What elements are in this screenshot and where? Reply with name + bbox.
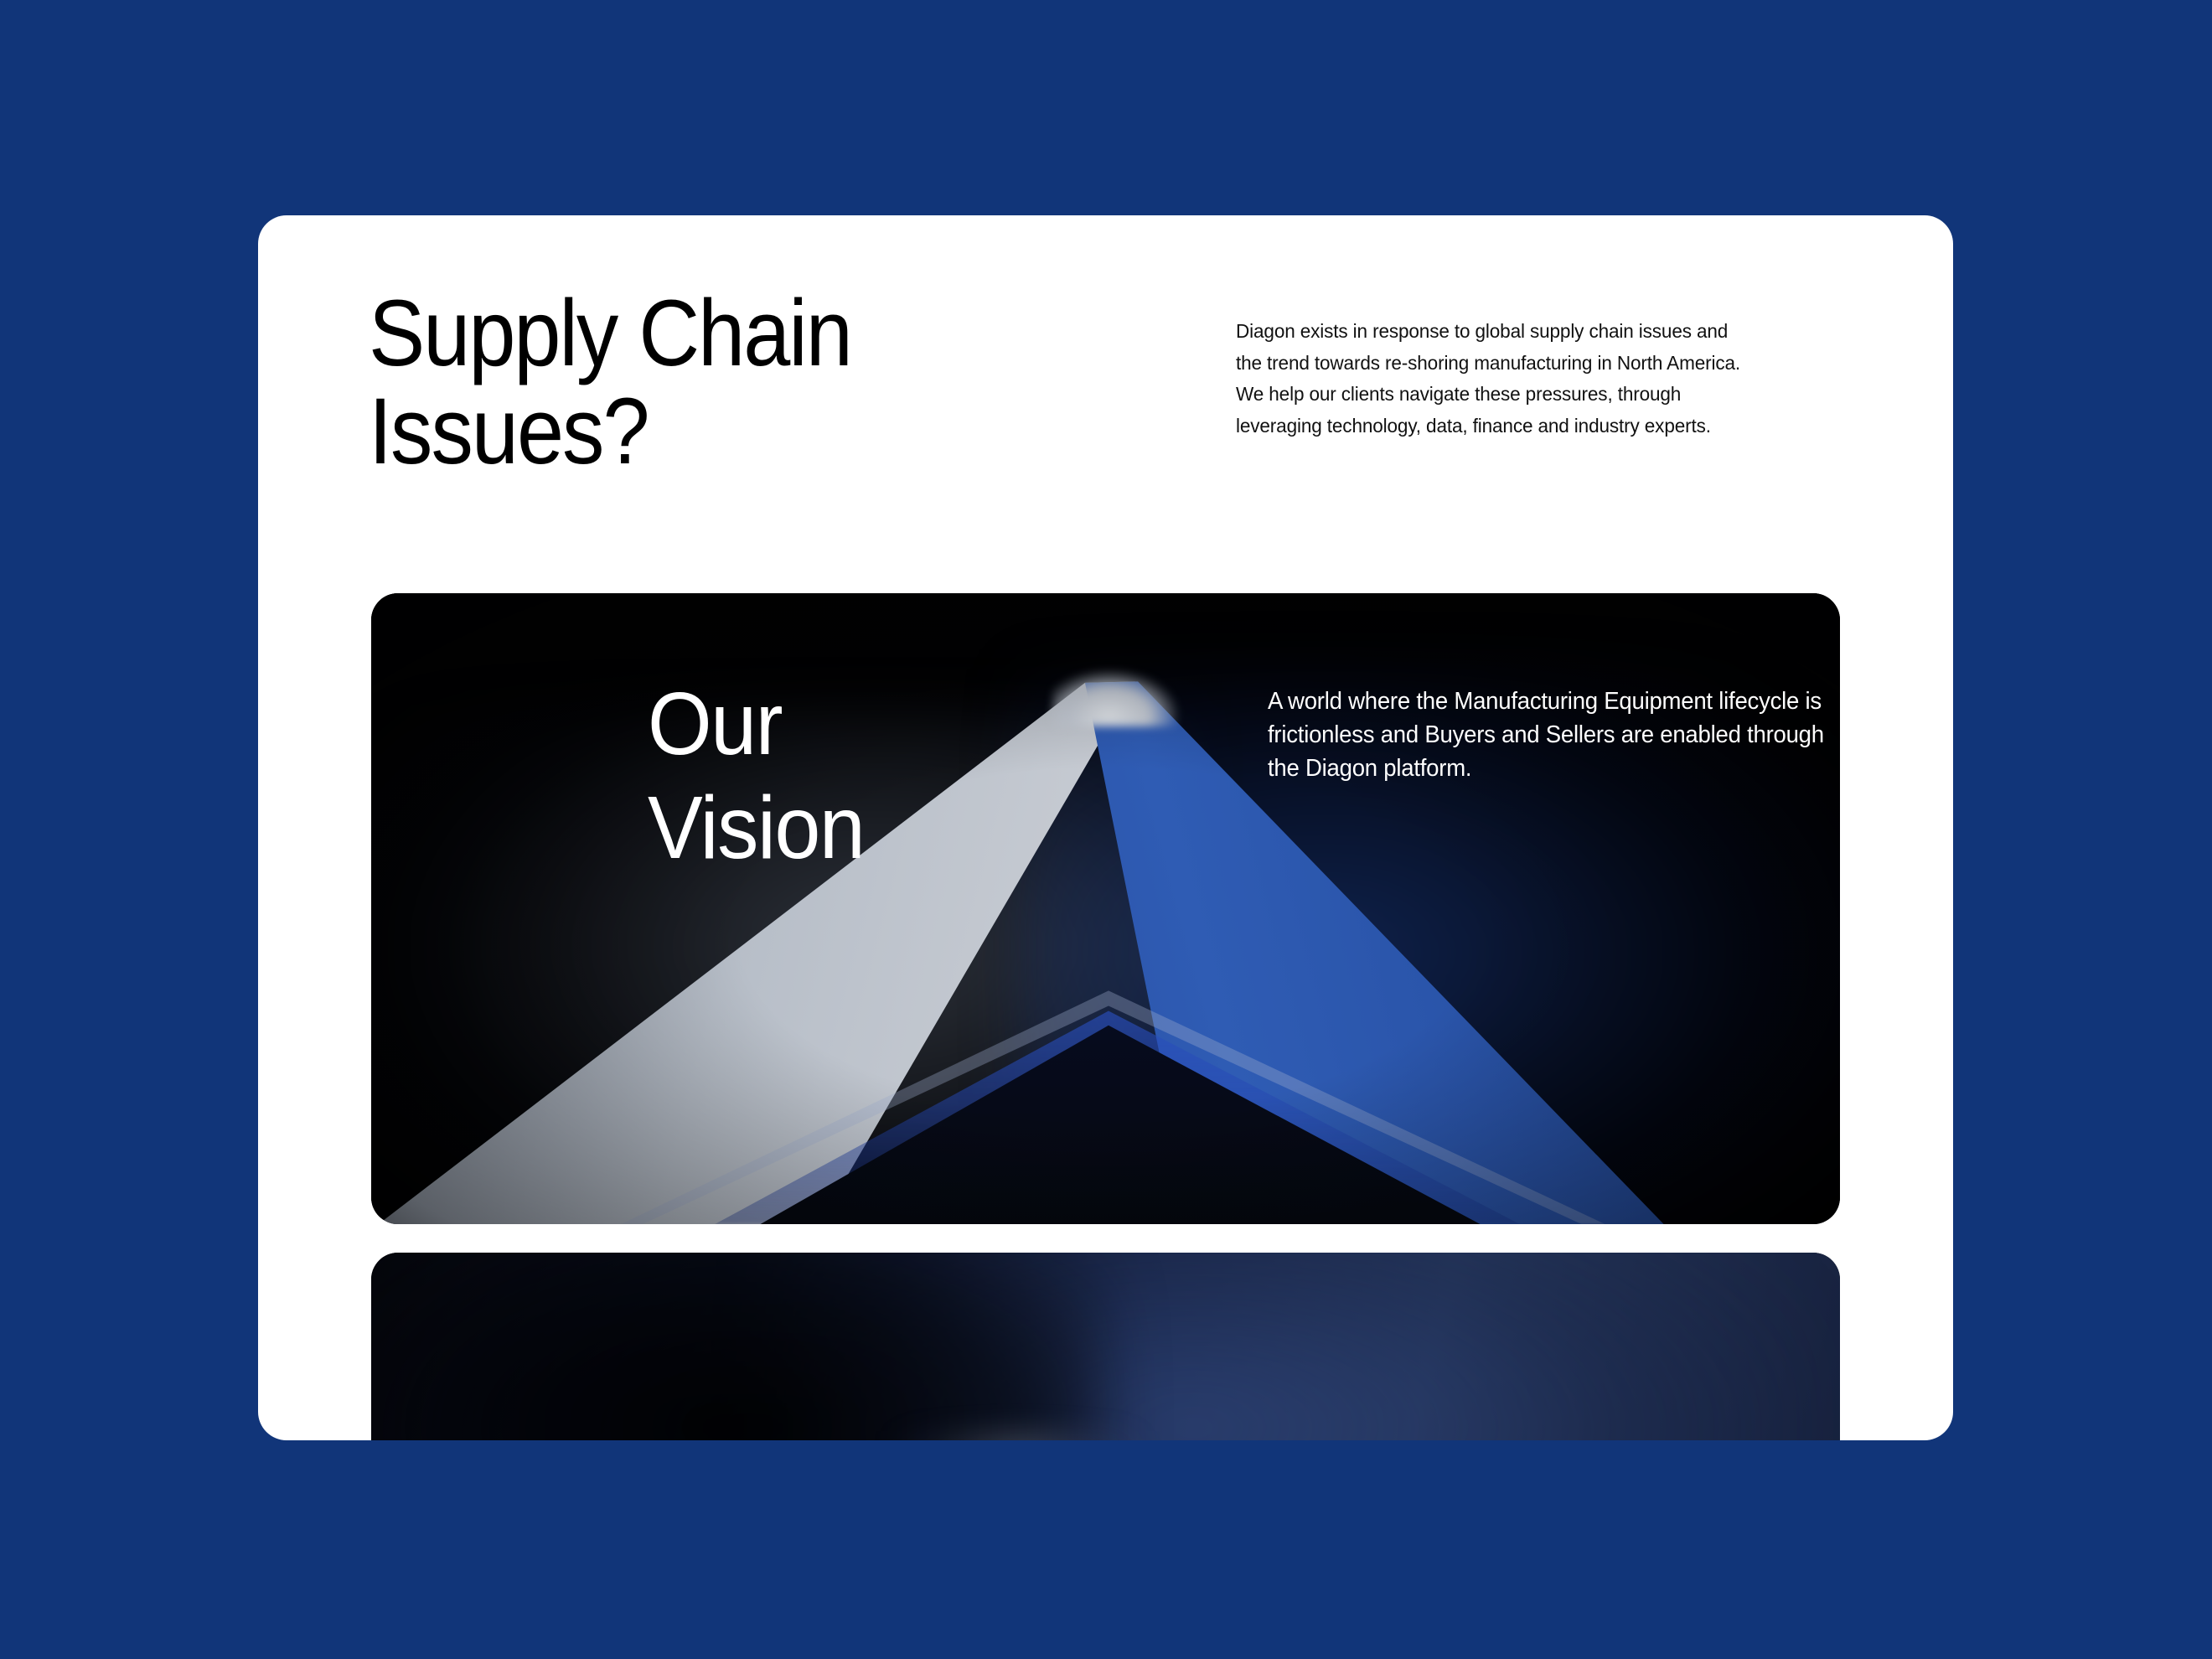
slide-canvas: Supply Chain Issues? Diagon exists in re… xyxy=(0,0,2212,1659)
vision-body-text: A world where the Manufacturing Equipmen… xyxy=(1268,685,1825,785)
artwork2-dark-mass xyxy=(371,1253,1106,1440)
vision-heading: Our Vision xyxy=(648,672,864,880)
vision-media-card[interactable]: Our Vision A world where the Manufacturi… xyxy=(371,593,1840,1224)
slide-header: Supply Chain Issues? Diagon exists in re… xyxy=(258,215,1953,542)
artwork2-peak-glow xyxy=(886,1431,1150,1440)
slide-card: Supply Chain Issues? Diagon exists in re… xyxy=(258,215,1953,1440)
page-title: Supply Chain Issues? xyxy=(369,284,942,480)
second-media-card[interactable] xyxy=(371,1253,1840,1440)
intro-paragraph: Diagon exists in response to global supp… xyxy=(1236,316,1750,442)
striated-peak-artwork xyxy=(371,1253,1840,1440)
